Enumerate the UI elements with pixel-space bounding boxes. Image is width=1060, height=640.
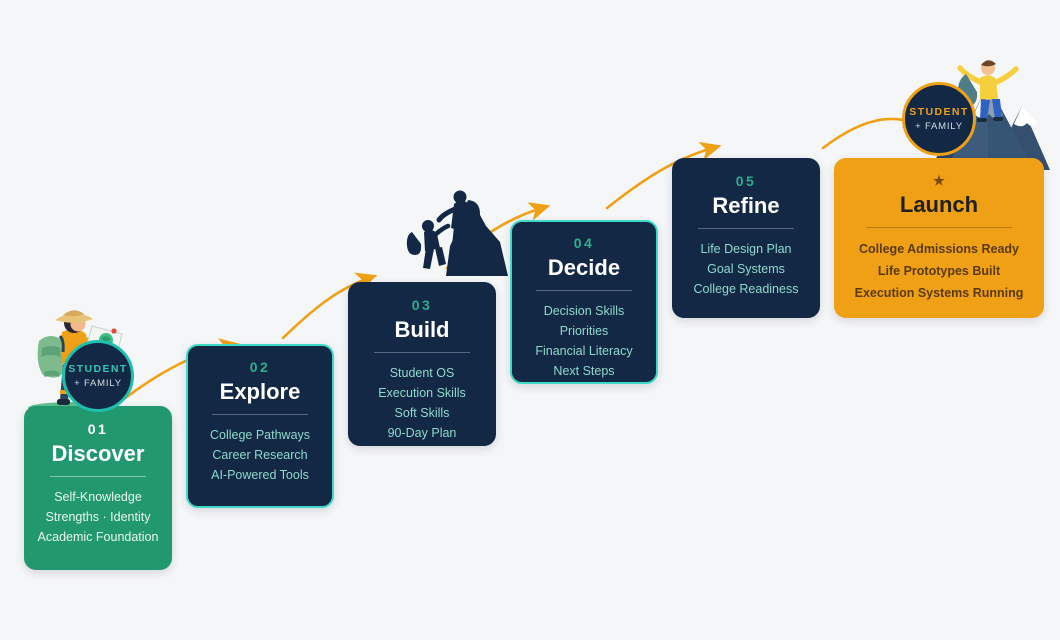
step-card-refine[interactable]: 05 Refine Life Design Plan Goal Systems … — [672, 158, 820, 318]
step-card-decide[interactable]: 04 Decide Decision Skills Priorities Fin… — [510, 220, 658, 384]
list-item: Financial Literacy — [522, 341, 646, 361]
step-number: 03 — [360, 298, 484, 312]
divider — [374, 352, 471, 353]
star-icon: ★ — [846, 174, 1032, 187]
step-item-list: Life Design Plan Goal Systems College Re… — [684, 239, 808, 299]
step-item-list: College Admissions Ready Life Prototypes… — [846, 238, 1032, 304]
step-card-build[interactable]: 03 Build Student OS Execution Skills Sof… — [348, 282, 496, 446]
step-item-list: College Pathways Career Research AI-Powe… — [198, 425, 322, 485]
list-item: AI-Powered Tools — [198, 465, 322, 485]
list-item: Priorities — [522, 321, 646, 341]
badge-student-label: STUDENT — [909, 107, 968, 118]
step-item-list: Decision Skills Priorities Financial Lit… — [522, 301, 646, 381]
student-family-badge-start: STUDENT + FAMILY — [62, 340, 134, 412]
badge-family-label: + FAMILY — [74, 379, 122, 389]
list-item: College Admissions Ready — [846, 238, 1032, 260]
list-item: Career Research — [198, 445, 322, 465]
step-title: Build — [360, 318, 484, 341]
list-item: Execution Systems Running — [846, 282, 1032, 304]
divider — [866, 227, 1011, 228]
step-item-list: Self-Knowledge Strengths · Identity Acad… — [36, 487, 160, 547]
step-card-explore[interactable]: 02 Explore College Pathways Career Resea… — [186, 344, 334, 508]
divider — [212, 414, 309, 415]
step-card-launch[interactable]: ★ Launch College Admissions Ready Life P… — [834, 158, 1044, 318]
divider — [698, 228, 795, 229]
step-number: 01 — [36, 422, 160, 436]
step-number: 04 — [522, 236, 646, 250]
list-item: Soft Skills — [360, 403, 484, 423]
list-item: Student OS — [360, 363, 484, 383]
list-item: 90-Day Plan — [360, 423, 484, 443]
step-title: Refine — [684, 194, 808, 217]
list-item: Execution Skills — [360, 383, 484, 403]
step-number: 02 — [198, 360, 322, 374]
step-title: Explore — [198, 380, 322, 403]
step-title: Discover — [36, 442, 160, 465]
list-item: Life Prototypes Built — [846, 260, 1032, 282]
list-item: Life Design Plan — [684, 239, 808, 259]
student-family-badge-end: STUDENT + FAMILY — [902, 82, 976, 156]
climbers-helping-illustration — [402, 182, 508, 276]
badge-student-label: STUDENT — [68, 364, 127, 375]
infographic-canvas: STUDENT + FAMILY STUDENT + FAMILY 01 Dis… — [0, 0, 1060, 640]
list-item: Decision Skills — [522, 301, 646, 321]
step-title: Launch — [846, 193, 1032, 216]
divider — [536, 290, 633, 291]
list-item: Self-Knowledge — [36, 487, 160, 507]
badge-family-label: + FAMILY — [915, 122, 963, 132]
list-item: Goal Systems — [684, 259, 808, 279]
divider — [50, 476, 147, 477]
step-item-list: Student OS Execution Skills Soft Skills … — [360, 363, 484, 443]
list-item: Strengths · Identity — [36, 507, 160, 527]
step-number: 05 — [684, 174, 808, 188]
step-card-discover[interactable]: 01 Discover Self-Knowledge Strengths · I… — [24, 406, 172, 570]
list-item: College Readiness — [684, 279, 808, 299]
list-item: Next Steps — [522, 361, 646, 381]
list-item: College Pathways — [198, 425, 322, 445]
step-title: Decide — [522, 256, 646, 279]
list-item: Academic Foundation — [36, 527, 160, 547]
